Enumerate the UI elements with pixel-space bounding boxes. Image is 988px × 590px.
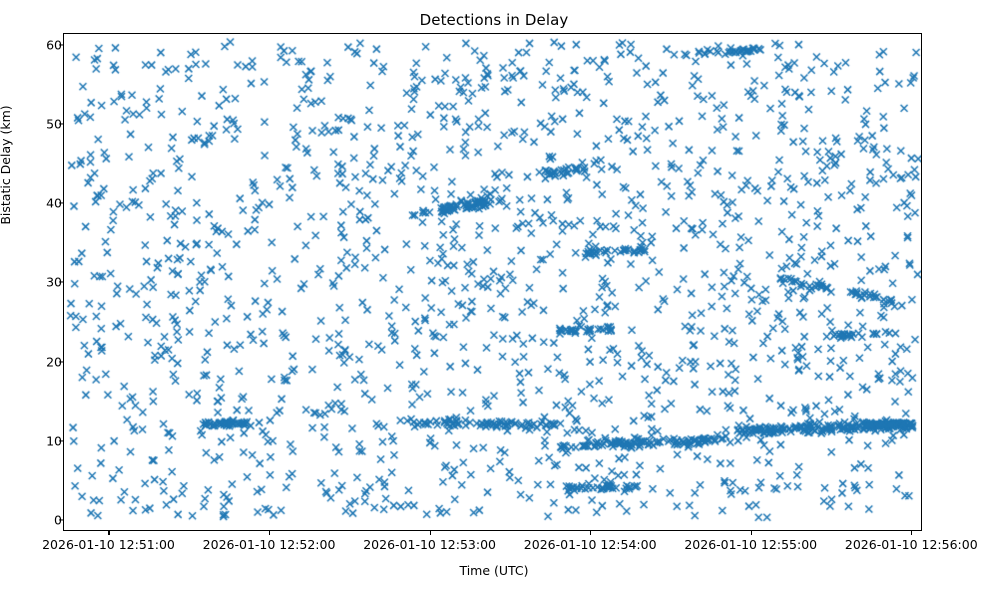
x-tick-mark — [269, 531, 270, 535]
y-axis-label: Bistatic Delay (km) — [0, 35, 13, 295]
y-tick-mark — [59, 203, 63, 204]
y-tick-label: 60 — [22, 37, 62, 52]
x-axis-label: Time (UTC) — [0, 563, 988, 578]
matplotlib-figure: Detections in Delay Bistatic Delay (km) … — [0, 0, 988, 590]
x-tick-mark — [430, 531, 431, 535]
y-tick-mark — [59, 440, 63, 441]
y-tick-mark — [59, 44, 63, 45]
y-tick-mark — [59, 282, 63, 283]
x-tick-label: 2026-01-10 12:55:00 — [684, 537, 817, 552]
y-tick-label: 0 — [22, 512, 62, 527]
x-tick-label: 2026-01-10 12:52:00 — [203, 537, 336, 552]
plot-axes-area — [63, 33, 922, 531]
x-tick-mark — [590, 531, 591, 535]
x-tick-label: 2026-01-10 12:54:00 — [524, 537, 657, 552]
y-tick-mark — [59, 361, 63, 362]
x-tick-label: 2026-01-10 12:51:00 — [42, 537, 175, 552]
y-tick-mark — [59, 519, 63, 520]
y-tick-mark — [59, 124, 63, 125]
x-tick-label: 2026-01-10 12:53:00 — [363, 537, 496, 552]
y-tick-label: 40 — [22, 196, 62, 211]
x-tick-label: 2026-01-10 12:56:00 — [845, 537, 978, 552]
x-tick-mark — [108, 531, 109, 535]
x-tick-mark — [751, 531, 752, 535]
y-tick-label: 20 — [22, 354, 62, 369]
x-tick-mark — [911, 531, 912, 535]
chart-title: Detections in Delay — [0, 11, 988, 29]
scatter-plot-canvas — [64, 34, 921, 530]
y-tick-label: 50 — [22, 117, 62, 132]
y-tick-label: 30 — [22, 275, 62, 290]
y-tick-label: 10 — [22, 433, 62, 448]
